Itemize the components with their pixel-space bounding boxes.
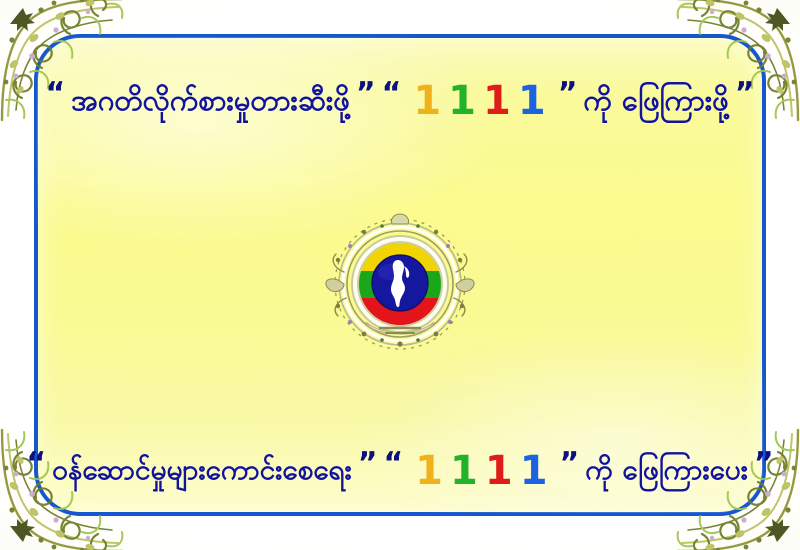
hotline-digit-4: 1 (518, 81, 546, 121)
hotline-close-quote-bottom: ” (560, 452, 580, 476)
poster-content: “ အဂတိလိုက်စားမှုတားဆီးဖို့ ” “ 1 1 1 1 … (0, 0, 800, 550)
top-slogan-after-number: ကို ဖြေကြားဖို့ (583, 85, 728, 115)
bottom-slogan-after-number: ကို ဖြေကြားပေး (585, 455, 748, 484)
hotline-digit-2: 1 (450, 451, 478, 491)
hotline-number-top[interactable]: 1 1 1 1 (407, 81, 551, 121)
open-quote-bottom: “ (26, 452, 46, 476)
hotline-open-quote-bottom: “ (383, 452, 403, 476)
myanmar-government-emblem-icon (320, 210, 480, 360)
close-quote-bottom: ” (358, 452, 378, 476)
hotline-digit-3: 1 (485, 451, 513, 491)
hotline-close-quote-top: ” (558, 82, 578, 106)
hotline-digit-4: 1 (520, 451, 548, 491)
bottom-slogan-line: “ ဝန်ဆောင်မှုများကောင်းစေရေး ” “ 1 1 1 1… (20, 450, 780, 490)
hotline-number-bottom[interactable]: 1 1 1 1 (409, 451, 553, 491)
hotline-digit-1: 1 (415, 451, 443, 491)
emblem-container (320, 210, 480, 360)
bottom-slogan-before-number: ဝန်ဆောင်မှုများကောင်းစေရေး (52, 455, 352, 484)
open-quote-top: “ (46, 82, 66, 106)
hotline-digit-3: 1 (483, 81, 511, 121)
hotline-digit-1: 1 (413, 81, 441, 121)
after-close-quote-top: ” (735, 82, 755, 106)
top-slogan-before-number: အဂတိလိုက်စားမှုတားဆီးဖို့ (71, 85, 350, 115)
after-close-quote-bottom: ” (754, 452, 774, 476)
top-slogan-line: “ အဂတိလိုက်စားမှုတားဆီးဖို့ ” “ 1 1 1 1 … (20, 80, 780, 120)
hotline-open-quote-top: “ (382, 82, 402, 106)
hotline-digit-2: 1 (448, 81, 476, 121)
close-quote-top: ” (356, 82, 376, 106)
poster-root: “ အဂတိလိုက်စားမှုတားဆီးဖို့ ” “ 1 1 1 1 … (0, 0, 800, 550)
